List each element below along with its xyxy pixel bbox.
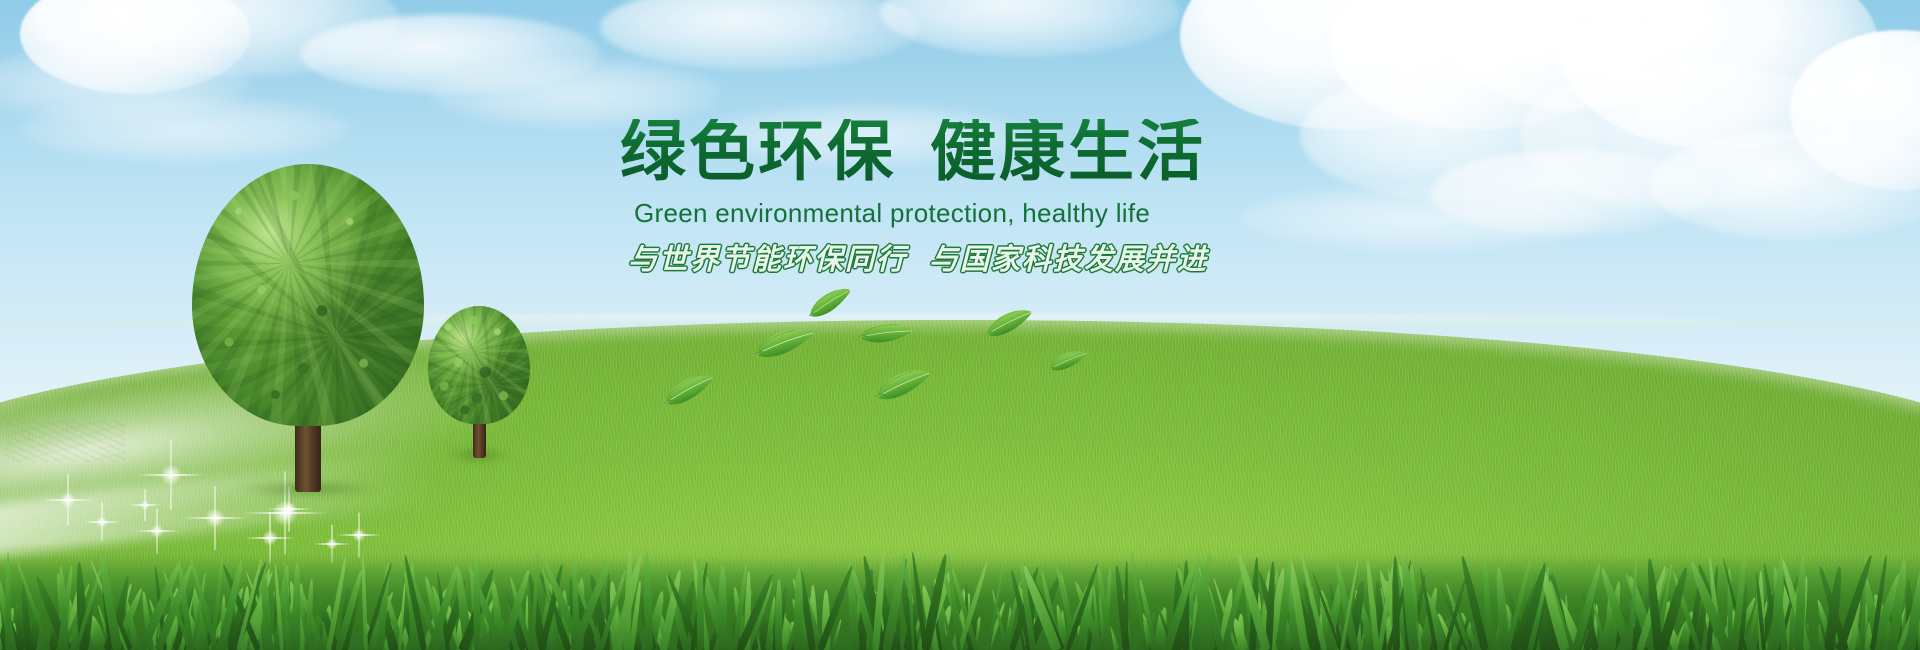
grass-blade: [718, 566, 727, 650]
sparkle-1: [60, 492, 76, 508]
large-tree: [192, 164, 424, 492]
grass-blade: [1237, 614, 1244, 650]
grass-blade: [304, 578, 315, 650]
sparkle-11: [140, 500, 150, 510]
small-tree: [428, 306, 530, 458]
grass-blade: [292, 562, 301, 650]
cloud-mid-wisp: [430, 58, 720, 128]
grass-blade: [472, 555, 481, 650]
grass-blade: [5, 552, 11, 650]
large-tree-canopy-edge: [190, 162, 426, 428]
sparkle-4: [205, 508, 225, 528]
grass-blade: [643, 551, 654, 650]
cloud-center-top: [880, 0, 1180, 56]
sparkle-5: [160, 464, 182, 486]
grass-blade: [775, 579, 783, 650]
sparkle-2: [96, 516, 108, 528]
small-tree-canopy: [428, 306, 530, 424]
eco-hero-banner: 绿色环保健康生活 Green environmental protection,…: [0, 0, 1920, 650]
grass-blade-group: [0, 530, 1920, 650]
cloud-right-haze: [1240, 186, 1600, 250]
watermark-marks: [6, 420, 126, 462]
grass-blade: [360, 553, 368, 650]
cloud-mid-upper: [600, 0, 920, 70]
sparkle-8: [282, 502, 296, 516]
large-tree-canopy: [192, 164, 424, 426]
cloud-left-low: [20, 96, 350, 162]
cloud-center-low: [700, 104, 1030, 166]
small-tree-canopy-edge: [426, 304, 532, 426]
